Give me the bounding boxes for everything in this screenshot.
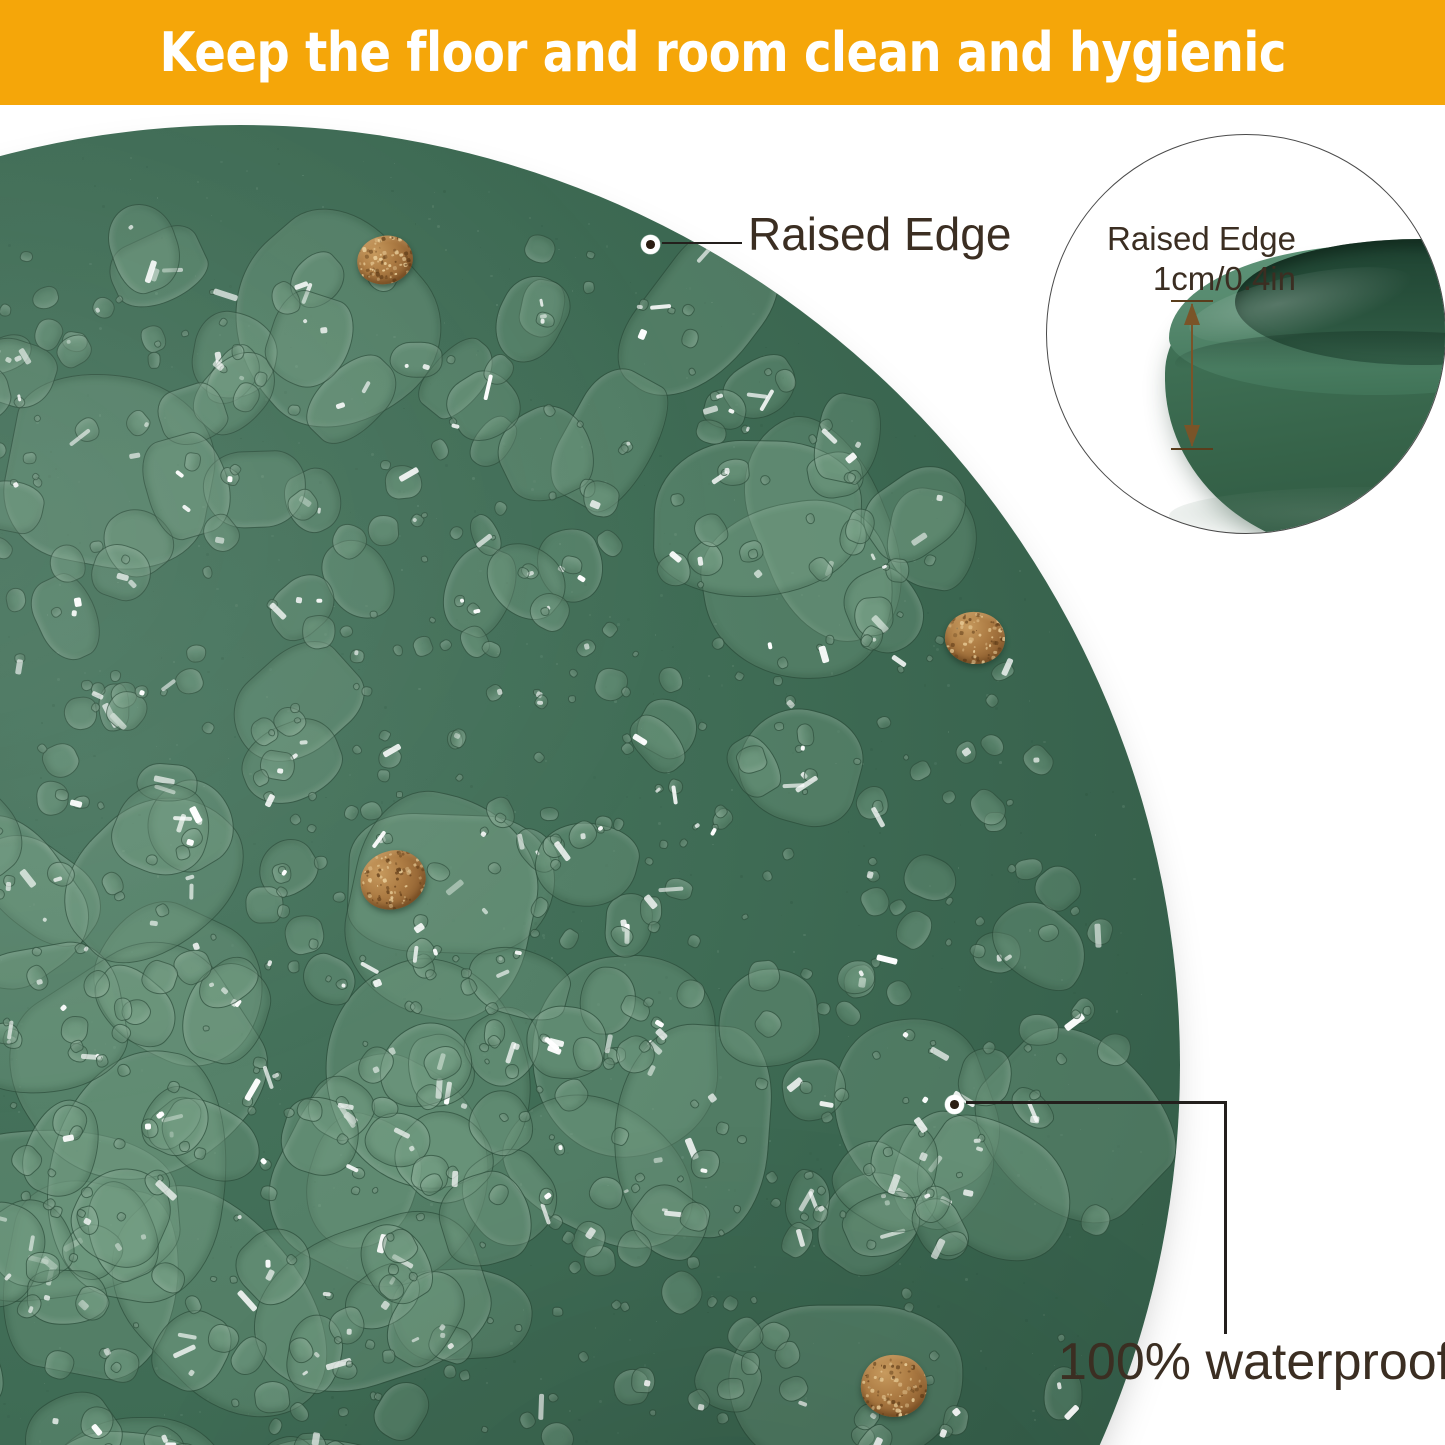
kibble-piece	[942, 608, 1009, 668]
dimension-arrowhead-down-icon	[1184, 425, 1200, 447]
product-infographic: Keep the floor and room clean and hygien…	[0, 0, 1445, 1445]
kibble-piece	[858, 1352, 930, 1421]
closeup-ground-shadow	[1169, 487, 1445, 533]
raised-edge-callout-circle: Raised Edge 1cm/0.4in	[1046, 134, 1445, 534]
raised-edge-marker-dot	[641, 235, 660, 254]
callout-label-block: Raised Edge 1cm/0.4in	[1091, 219, 1296, 300]
dimension-tick-bottom	[1171, 448, 1213, 450]
feeding-mat	[0, 125, 1180, 1445]
waterproof-marker-dot	[945, 1095, 964, 1114]
waterproof-label: 100% waterproof	[1058, 1332, 1445, 1392]
header-banner: Keep the floor and room clean and hygien…	[0, 0, 1445, 105]
raised-edge-label: Raised Edge	[748, 207, 1011, 261]
banner-headline: Keep the floor and room clean and hygien…	[159, 26, 1285, 80]
mat-raised-edge	[0, 125, 1180, 1445]
callout-closeup-photo	[1047, 135, 1445, 533]
callout-label-line1: Raised Edge	[1107, 220, 1296, 257]
dimension-arrowhead-up-icon	[1184, 303, 1200, 325]
raised-edge-leader-line	[662, 242, 742, 245]
waterproof-leader-vertical	[1224, 1101, 1227, 1334]
waterproof-leader-horizontal	[966, 1101, 1226, 1104]
callout-label-line2: 1cm/0.4in	[1091, 259, 1296, 299]
dimension-arrow	[1165, 300, 1225, 450]
mat-surface	[0, 125, 1180, 1445]
